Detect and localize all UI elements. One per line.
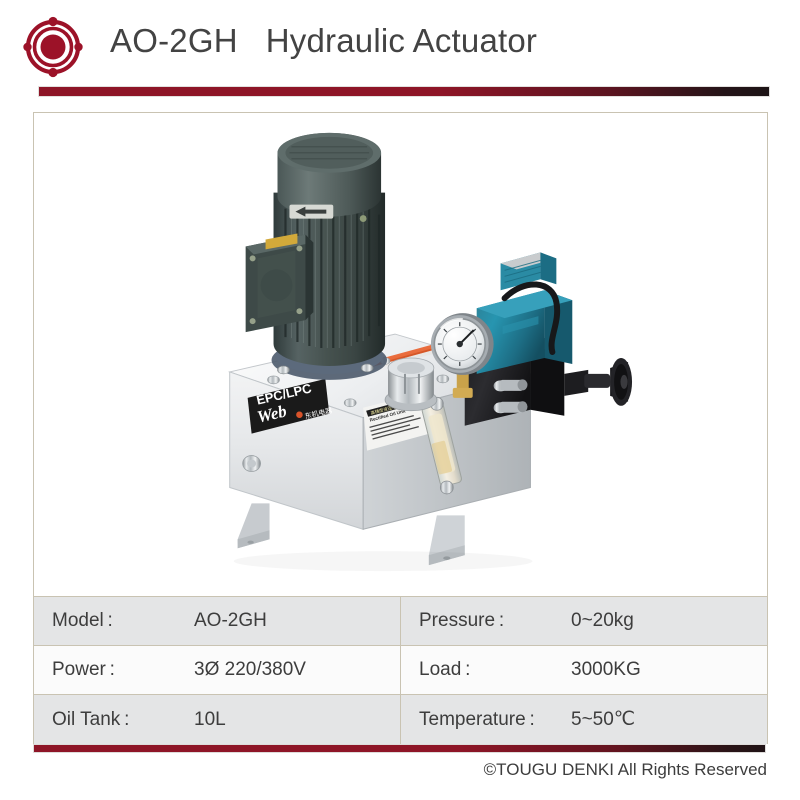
specification-table: Model : AO-2GH Pressure : 0~20kg Power :… xyxy=(33,597,768,744)
motor-junction-box xyxy=(246,234,314,333)
page-title-product: Hydraulic Actuator xyxy=(266,22,537,59)
table-cell-load: Load : 3000KG xyxy=(401,646,767,694)
oil-filler-breather-cap xyxy=(385,358,437,411)
spec-key-power: Power : xyxy=(34,659,194,681)
product-spec-page: AO-2GHHydraulic Actuator xyxy=(0,0,800,800)
table-accent-rule xyxy=(33,744,766,753)
copyright-notice: ©TOUGU DENKI All Rights Reserved xyxy=(484,760,767,780)
table-cell-pressure: Pressure : 0~20kg xyxy=(401,597,767,645)
page-title: AO-2GHHydraulic Actuator xyxy=(110,22,537,60)
page-title-model: AO-2GH xyxy=(110,22,238,59)
header-accent-rule xyxy=(38,86,770,97)
spec-key-model: Model : xyxy=(34,610,194,632)
table-row: Model : AO-2GH Pressure : 0~20kg xyxy=(34,597,767,646)
electric-motor xyxy=(246,133,387,380)
table-row: Oil Tank : 10L Temperature : 5~50℃ xyxy=(34,695,767,744)
tougu-ring-emblem-icon xyxy=(22,16,84,78)
table-cell-model: Model : AO-2GH xyxy=(34,597,401,645)
table-cell-oil-tank: Oil Tank : 10L xyxy=(34,695,401,744)
table-cell-power: Power : 3Ø 220/380V xyxy=(34,646,401,694)
spec-value-model: AO-2GH xyxy=(194,610,267,632)
table-cell-temperature: Temperature : 5~50℃ xyxy=(401,695,767,744)
table-row: Power : 3Ø 220/380V Load : 3000KG xyxy=(34,646,767,695)
page-header: AO-2GHHydraulic Actuator xyxy=(0,0,800,100)
spec-value-load: 3000KG xyxy=(571,659,641,681)
spec-key-load: Load : xyxy=(401,659,571,681)
spec-key-pressure: Pressure : xyxy=(401,610,571,632)
tank-drain-fitting xyxy=(243,456,261,472)
spec-value-power: 3Ø 220/380V xyxy=(194,659,306,681)
spec-value-temperature: 5~50℃ xyxy=(571,708,635,731)
product-image-panel: EPC/LPC Web 东机电器 高精度液压电机油压缸 Rectified Oi… xyxy=(33,112,768,597)
spec-value-pressure: 0~20kg xyxy=(571,610,634,632)
manual-override-knob xyxy=(564,358,632,406)
hydraulic-power-unit-photo: EPC/LPC Web 东机电器 高精度液压电机油压缸 Rectified Oi… xyxy=(34,113,767,596)
spec-value-oil-tank: 10L xyxy=(194,709,226,731)
spec-key-oil-tank: Oil Tank : xyxy=(34,709,194,731)
spec-key-temperature: Temperature : xyxy=(401,709,571,731)
